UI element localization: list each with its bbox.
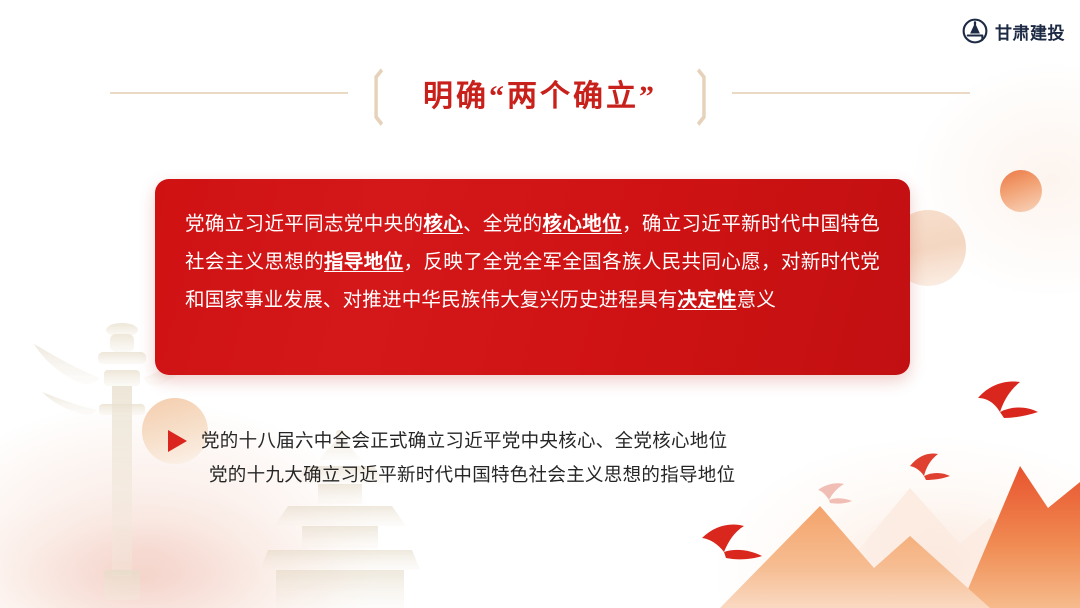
- slide-title-row: ❲ 明确“两个确立” ❳: [0, 70, 1080, 116]
- card-emphasis-text: 指导地位: [324, 251, 403, 273]
- card-plain-text: 意义: [737, 289, 776, 311]
- highlight-card-text: 党确立习近平同志党中央的核心、全党的核心地位，确立习近平新时代中国特色社会主义思…: [185, 205, 880, 319]
- card-emphasis-text: 核心: [423, 213, 463, 235]
- card-plain-text: 党确立习近平同志党中央的: [185, 213, 423, 235]
- card-emphasis-text: 核心地位: [543, 213, 622, 235]
- decorative-circle-top-right: [1000, 170, 1042, 212]
- card-plain-text: 、全党的: [463, 213, 542, 235]
- title-brace-left: ❲: [358, 64, 397, 122]
- bullet-block: 党的十八届六中全会正式确立习近平党中央核心、全党核心地位 党的十九大确立习近平新…: [168, 424, 888, 492]
- brand-name: 甘肃建投: [995, 19, 1065, 44]
- slide-canvas: 甘肃建投 ❲ 明确“两个确立” ❳ 党确立习近平同志党中央的核心、全党的核心地位…: [0, 0, 1080, 608]
- title-rule-left: [110, 92, 348, 94]
- bullet-line-1: 党的十八届六中全会正式确立习近平党中央核心、全党核心地位: [201, 424, 735, 458]
- page-title: 明确“两个确立”: [397, 71, 683, 115]
- brand-logo: 甘肃建投: [962, 18, 1065, 44]
- title-rule-right: [732, 92, 970, 94]
- bullet-line-2: 党的十九大确立习近平新时代中国特色社会主义思想的指导地位: [201, 458, 735, 492]
- highlight-card: 党确立习近平同志党中央的核心、全党的核心地位，确立习近平新时代中国特色社会主义思…: [155, 179, 910, 375]
- card-emphasis-text: 决定性: [678, 289, 737, 311]
- bullet-lines: 党的十八届六中全会正式确立习近平党中央核心、全党核心地位 党的十九大确立习近平新…: [201, 424, 735, 492]
- title-brace-right: ❳: [683, 64, 722, 122]
- triangle-right-icon: [168, 430, 187, 452]
- gansu-construction-circle-logo-icon: [962, 18, 988, 44]
